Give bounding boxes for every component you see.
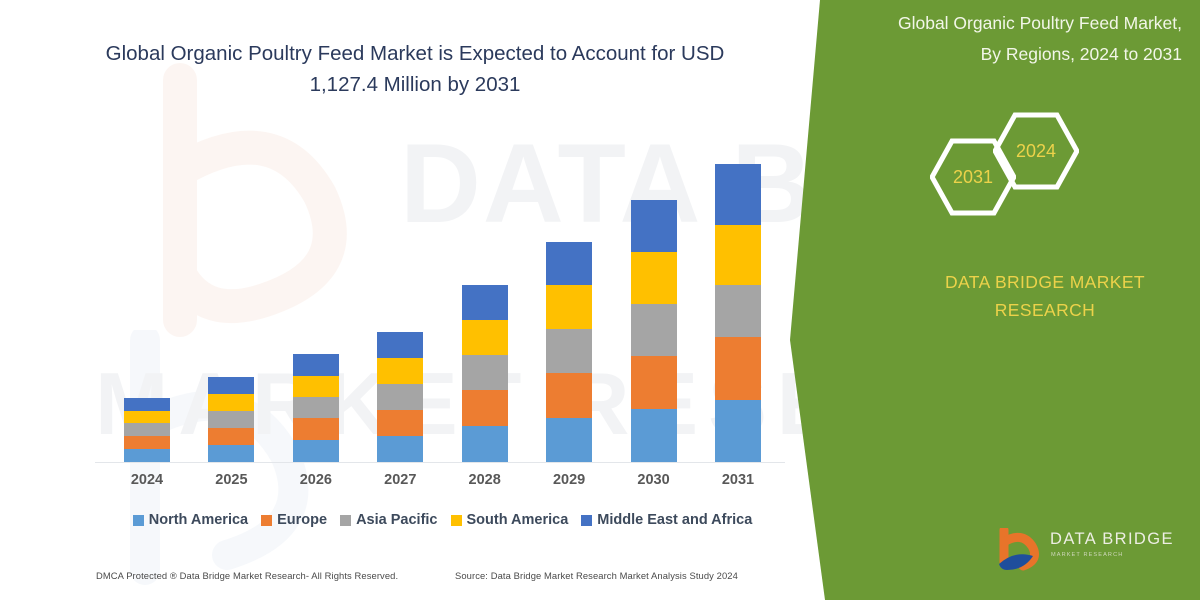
bar-segment [293,397,339,418]
bar-segment [208,428,254,445]
bar-segment [377,436,423,462]
bar-column [448,120,522,462]
panel-title-line1: Global Organic Poultry Feed Market, [822,8,1182,39]
bar-segment [293,418,339,440]
bar-segment [124,411,170,423]
hexagon-badges: 2031 2024 [930,112,1110,212]
bar-segment [124,436,170,449]
bar-segment [546,242,592,285]
footer-source: Source: Data Bridge Market Research Mark… [455,570,738,581]
bar-column [110,120,184,462]
bar-segment [208,445,254,462]
x-axis-tick-label: 2028 [448,472,522,488]
bar-segment [462,426,508,462]
hexagon-badge-2024: 2024 [993,112,1079,190]
bar-column [617,120,691,462]
x-axis-tick-label: 2027 [363,472,437,488]
bar-segment [546,373,592,418]
panel-brand-line1: DATA BRIDGE MARKET [900,268,1190,296]
legend-item[interactable]: South America [451,512,569,528]
bar-column [279,120,353,462]
legend-item[interactable]: Asia Pacific [340,512,437,528]
stacked-bar [377,332,423,462]
stacked-bar [208,377,254,462]
infographic-canvas: DATA BRIDGE MARKET RESEARCH Global Organ… [0,0,1200,600]
panel-title: Global Organic Poultry Feed Market, By R… [822,8,1182,70]
x-axis-tick-label: 2025 [194,472,268,488]
legend-swatch-icon [581,515,592,526]
bar-column [194,120,268,462]
stacked-bar [546,242,592,462]
bar-segment [377,332,423,358]
bar-segment [715,164,761,225]
bar-segment [715,225,761,285]
bar-segment [715,285,761,337]
bar-segment [377,410,423,436]
dbmr-logo-subtitle: MARKET RESEARCH [1051,552,1123,558]
bar-segment [631,356,677,409]
stacked-bar [462,285,508,462]
bar-segment [293,440,339,462]
bar-segment [546,329,592,373]
legend-swatch-icon [133,515,144,526]
stacked-bar [631,200,677,462]
bar-segment [124,398,170,411]
legend-item-label: Asia Pacific [356,512,437,528]
legend-item-label: Europe [277,512,327,528]
hexagon-badge-2024-label: 2024 [993,112,1079,190]
legend-item-label: South America [467,512,569,528]
dbmr-logo: DATA BRIDGE MARKET RESEARCH [995,528,1185,576]
bar-segment [546,285,592,329]
bar-segment [462,390,508,426]
bar-segment [715,400,761,462]
bar-segment [124,423,170,436]
dbmr-logo-text: DATA BRIDGE [1050,530,1174,549]
bar-segment [631,304,677,356]
stacked-bar [293,354,339,462]
stacked-bar [124,398,170,462]
bar-segment [631,252,677,304]
bar-segment [546,418,592,462]
legend-swatch-icon [261,515,272,526]
bar-segment [462,355,508,390]
chart-legend: North AmericaEuropeAsia PacificSouth Ame… [110,512,775,528]
bar-segment [377,358,423,384]
x-axis-tick-label: 2024 [110,472,184,488]
bar-segment [208,394,254,411]
bar-column [532,120,606,462]
panel-brand-name: DATA BRIDGE MARKET RESEARCH [900,268,1190,324]
legend-item-label: Middle East and Africa [597,512,752,528]
x-axis-tick-label: 2031 [701,472,775,488]
legend-item[interactable]: North America [133,512,248,528]
panel-title-line2: By Regions, 2024 to 2031 [822,39,1182,70]
bar-segment [124,449,170,462]
x-axis-tick-label: 2026 [279,472,353,488]
bar-column [701,120,775,462]
legend-item[interactable]: Europe [261,512,327,528]
bar-column [363,120,437,462]
x-axis-tick-label: 2030 [617,472,691,488]
footer-copyright: DMCA Protected ® Data Bridge Market Rese… [96,570,398,581]
stacked-bar [715,164,761,462]
bar-segment [208,411,254,428]
bar-segment [462,320,508,355]
panel-brand-line2: RESEARCH [900,296,1190,324]
bar-segment [715,337,761,400]
bar-segment [293,376,339,397]
bar-segment [631,409,677,462]
bar-segment [208,377,254,394]
legend-swatch-icon [340,515,351,526]
legend-swatch-icon [451,515,462,526]
bar-segment [462,285,508,320]
dbmr-logo-mark [995,528,1047,574]
legend-item-label: North America [149,512,248,528]
x-axis-labels: 20242025202620272028202920302031 [110,472,775,488]
bar-chart-plot [110,120,775,462]
legend-item[interactable]: Middle East and Africa [581,512,752,528]
bar-segment [631,200,677,252]
x-axis-tick-label: 2029 [532,472,606,488]
x-axis-line [95,462,785,463]
chart-title: Global Organic Poultry Feed Market is Ex… [95,38,735,100]
bar-segment [377,384,423,410]
bar-segment [293,354,339,376]
